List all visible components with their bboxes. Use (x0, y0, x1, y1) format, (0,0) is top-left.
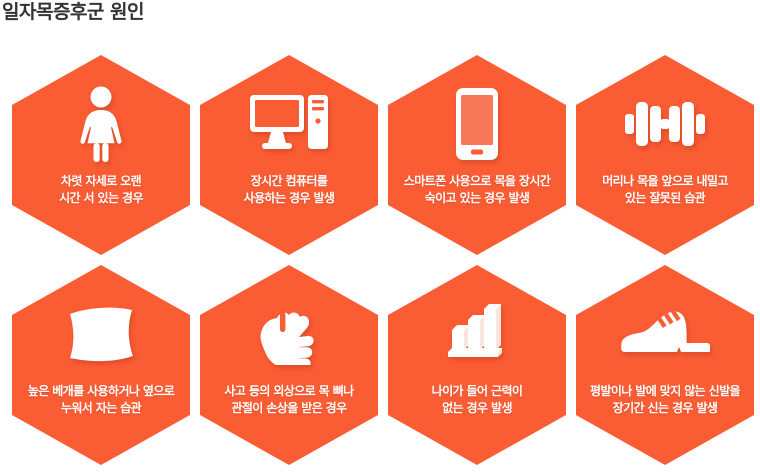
hex-card-label: 나이가 들어 근력이없는 경우 발생 (393, 383, 561, 417)
label-line-1: 장시간 컴퓨터를 (251, 174, 328, 188)
hex-card-shoe[interactable]: 평발이나 발에 맞지 않는 신발을장기간 신는 경우 발생 (576, 265, 754, 465)
hex-card-dumbbell[interactable]: 머리나 목을 앞으로 내밀고있는 잘못된 습관 (576, 55, 754, 255)
desktop-computer-icon (200, 85, 378, 163)
hex-card-pillow[interactable]: 높은 베개를 사용하거나 옆으로누워서 자는 습관 (12, 265, 190, 465)
hex-card-label: 머리나 목을 앞으로 내밀고있는 잘못된 습관 (581, 173, 749, 207)
label-line-2: 누워서 자는 습관 (61, 401, 141, 415)
label-line-1: 높은 베개를 사용하거나 옆으로 (28, 384, 174, 398)
hex-card-smartphone[interactable]: 스마트폰 사용으로 목을 장시간숙이고 있는 경우 발생 (388, 55, 566, 255)
label-line-2: 관절이 손상을 받은 경우 (231, 401, 346, 415)
label-line-1: 차렷 자세로 오랜 (61, 174, 141, 188)
shoe-icon (576, 295, 754, 373)
label-line-2: 시간 서 있는 경우 (59, 191, 143, 205)
dumbbell-icon (576, 85, 754, 163)
hex-card-label: 높은 베개를 사용하거나 옆으로누워서 자는 습관 (17, 383, 185, 417)
hex-card-label: 스마트폰 사용으로 목을 장시간숙이고 있는 경우 발생 (393, 173, 561, 207)
label-line-2: 있는 잘못된 습관 (625, 191, 705, 205)
label-line-1: 나이가 들어 근력이 (432, 384, 523, 398)
hex-card-desktop-computer[interactable]: 장시간 컴퓨터를사용하는 경우 발생 (200, 55, 378, 255)
smartphone-icon (388, 85, 566, 163)
hex-card-label: 평발이나 발에 맞지 않는 신발을장기간 신는 경우 발생 (581, 383, 749, 417)
label-line-2: 없는 경우 발생 (442, 401, 512, 415)
label-line-1: 평발이나 발에 맞지 않는 신발을 (590, 384, 740, 398)
hex-card-label: 장시간 컴퓨터를사용하는 경우 발생 (205, 173, 373, 207)
fist-hand-icon (200, 295, 378, 373)
label-line-1: 머리나 목을 앞으로 내밀고 (602, 174, 728, 188)
standing-person-icon (12, 85, 190, 163)
label-line-1: 사고 등의 외상으로 목 뼈나 (224, 384, 353, 398)
hex-card-bar-chart[interactable]: 나이가 들어 근력이없는 경우 발생 (388, 265, 566, 465)
label-line-2: 사용하는 경우 발생 (244, 191, 335, 205)
pillow-icon (12, 295, 190, 373)
label-line-2: 숙이고 있는 경우 발생 (425, 191, 530, 205)
hex-card-fist-hand[interactable]: 사고 등의 외상으로 목 뼈나관절이 손상을 받은 경우 (200, 265, 378, 465)
hex-card-label: 사고 등의 외상으로 목 뼈나관절이 손상을 받은 경우 (205, 383, 373, 417)
bar-chart-icon (388, 295, 566, 373)
hex-card-standing-person[interactable]: 차렷 자세로 오랜시간 서 있는 경우 (12, 55, 190, 255)
hex-card-label: 차렷 자세로 오랜시간 서 있는 경우 (17, 173, 185, 207)
hexagon-grid: 차렷 자세로 오랜시간 서 있는 경우 장시간 컴퓨터를사용하는 경우 발생 (0, 52, 760, 472)
label-line-2: 장기간 신는 경우 발생 (613, 401, 718, 415)
page-title: 일자목증후군 원인 (2, 0, 144, 25)
label-line-1: 스마트폰 사용으로 목을 장시간 (404, 174, 550, 188)
